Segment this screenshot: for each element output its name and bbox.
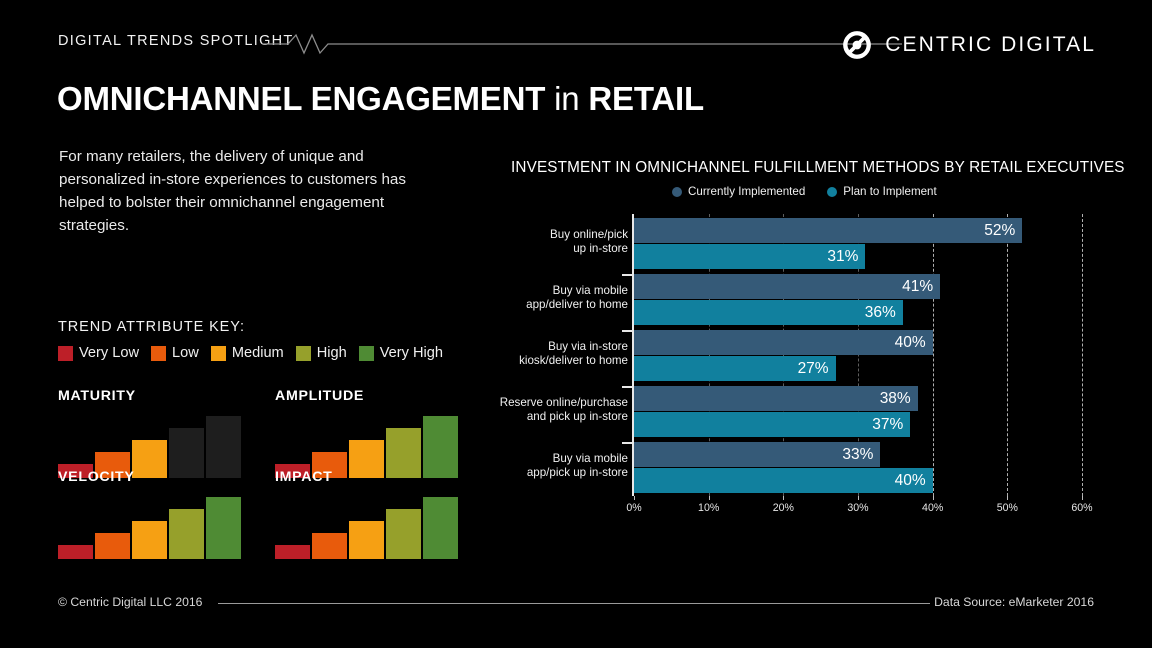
- page-title: OMNICHANNEL ENGAGEMENT in RETAIL: [57, 80, 704, 118]
- title-part-2: RETAIL: [588, 80, 704, 117]
- x-axis-label: 50%: [997, 502, 1018, 514]
- legend-dot: [827, 187, 837, 197]
- category-label-line: Buy via mobile: [463, 284, 628, 298]
- chart-bar-group: Buy via in-storekiosk/deliver to home40%…: [490, 330, 1110, 386]
- x-axis-label: 40%: [922, 502, 943, 514]
- attribute-panel-impact: IMPACT: [275, 469, 475, 559]
- trend-key-swatch: [359, 346, 374, 361]
- x-axis-tick: [858, 496, 859, 500]
- chart-bar[interactable]: 52%: [634, 218, 1022, 243]
- attribute-level-bar-active: [95, 533, 130, 559]
- chart-bar[interactable]: 41%: [634, 274, 940, 299]
- chart-bar-group: Buy online/pickup in-store52%31%: [490, 218, 1110, 274]
- centric-digital-circle-logo-icon: [842, 30, 872, 60]
- category-label-line: Reserve online/purchase: [463, 396, 628, 410]
- category-label-line: kiosk/deliver to home: [463, 354, 628, 368]
- legend-dot: [672, 187, 682, 197]
- trend-key-legend: Very LowLowMediumHighVery High: [58, 345, 443, 361]
- trend-key-label: Very Low: [79, 345, 139, 361]
- x-axis-tick: [783, 496, 784, 500]
- chart-bar-value: 36%: [865, 304, 903, 322]
- attribute-level-bar-active: [275, 545, 310, 559]
- attribute-panel-maturity: MATURITY: [58, 388, 258, 478]
- category-label: Reserve online/purchaseand pick up in-st…: [463, 396, 628, 424]
- page-header: DIGITAL TRENDS SPOTLIGHT CENTRIC DIGITAL: [0, 0, 1152, 72]
- bar-chart-plot: Buy online/pickup in-store52%31%Buy via …: [490, 210, 1110, 520]
- data-source-text: Data Source: eMarketer 2016: [934, 595, 1094, 609]
- brand-name: CENTRIC DIGITAL: [885, 33, 1096, 57]
- category-label: Buy online/pickup in-store: [463, 228, 628, 256]
- legend-label: Currently Implemented: [688, 185, 805, 198]
- chart-title: INVESTMENT IN OMNICHANNEL FULFILLMENT ME…: [511, 159, 1125, 177]
- attribute-level-bar-active: [206, 497, 241, 559]
- page-footer: © Centric Digital LLC 2016 Data Source: …: [0, 595, 1152, 619]
- trend-key-swatch: [151, 346, 166, 361]
- trend-key-item: Medium: [211, 345, 284, 361]
- trend-key-label: Very High: [380, 345, 443, 361]
- chart-bar-value: 37%: [872, 416, 910, 434]
- kicker-label: DIGITAL TRENDS SPOTLIGHT: [58, 33, 294, 49]
- intro-paragraph: For many retailers, the delivery of uniq…: [59, 145, 431, 237]
- category-label-line: up in-store: [463, 242, 628, 256]
- trend-key-swatch: [211, 346, 226, 361]
- trend-key-label: Medium: [232, 345, 284, 361]
- category-label-line: app/pick up in-store: [463, 466, 628, 480]
- x-axis-tick: [1007, 496, 1008, 500]
- attribute-level-bar-active: [312, 533, 347, 559]
- trend-key-item: Very Low: [58, 345, 139, 361]
- chart-bar[interactable]: 38%: [634, 386, 918, 411]
- attribute-level-bar-active: [132, 521, 167, 559]
- chart-bar[interactable]: 40%: [634, 330, 933, 355]
- brand-logo: CENTRIC DIGITAL: [842, 30, 1096, 60]
- trend-key-swatch: [296, 346, 311, 361]
- chart-bar-value: 31%: [827, 248, 865, 266]
- chart-bar-group: Buy via mobileapp/pick up in-store33%40%: [490, 442, 1110, 498]
- chart-bar-value: 33%: [842, 446, 880, 464]
- category-label-line: app/deliver to home: [463, 298, 628, 312]
- chart-bar[interactable]: 37%: [634, 412, 910, 437]
- waveform-pulse-icon: [262, 32, 902, 56]
- trend-key-item: Low: [151, 345, 199, 361]
- chart-bar-group: Reserve online/purchaseand pick up in-st…: [490, 386, 1110, 442]
- attribute-panel-velocity: VELOCITY: [58, 469, 258, 559]
- x-axis-label: 10%: [698, 502, 719, 514]
- trend-key-swatch: [58, 346, 73, 361]
- x-axis-tick: [1082, 496, 1083, 500]
- chart-bar[interactable]: 36%: [634, 300, 903, 325]
- title-part-1: OMNICHANNEL ENGAGEMENT: [57, 80, 545, 117]
- trend-key-item: High: [296, 345, 347, 361]
- x-axis-tick: [933, 496, 934, 500]
- category-label: Buy via mobileapp/deliver to home: [463, 284, 628, 312]
- attribute-level-bar-active: [349, 521, 384, 559]
- category-label-line: Buy via mobile: [463, 452, 628, 466]
- attribute-title: VELOCITY: [58, 469, 135, 485]
- attribute-panel-amplitude: AMPLITUDE: [275, 388, 475, 478]
- chart-bar[interactable]: 31%: [634, 244, 865, 269]
- trend-key-item: Very High: [359, 345, 443, 361]
- category-label: Buy via in-storekiosk/deliver to home: [463, 340, 628, 368]
- chart-bar-value: 38%: [880, 390, 918, 408]
- attribute-title: IMPACT: [275, 469, 333, 485]
- chart-legend: Currently ImplementedPlan to Implement: [672, 185, 937, 198]
- chart-bar[interactable]: 33%: [634, 442, 880, 467]
- x-axis-label: 60%: [1071, 502, 1092, 514]
- chart-bar[interactable]: 40%: [634, 468, 933, 493]
- attribute-title: MATURITY: [58, 388, 136, 404]
- legend-item[interactable]: Currently Implemented: [672, 185, 805, 198]
- category-label-line: Buy via in-store: [463, 340, 628, 354]
- chart-bar-value: 52%: [984, 222, 1022, 240]
- attribute-level-bar-active: [386, 509, 421, 559]
- chart-bar-value: 27%: [798, 360, 836, 378]
- x-axis-label: 0%: [626, 502, 641, 514]
- x-axis-tick: [634, 496, 635, 500]
- trend-key-label: High: [317, 345, 347, 361]
- category-label-line: Buy online/pick: [463, 228, 628, 242]
- trend-key-title: TREND ATTRIBUTE KEY:: [58, 319, 245, 335]
- attribute-level-bar-active: [423, 497, 458, 559]
- title-connector: in: [545, 80, 588, 117]
- chart-bar[interactable]: 27%: [634, 356, 836, 381]
- attribute-level-bar-active: [169, 509, 204, 559]
- category-label-line: and pick up in-store: [463, 410, 628, 424]
- footer-divider: [218, 603, 930, 604]
- chart-bar-value: 41%: [902, 278, 940, 296]
- x-axis: 0%10%20%30%40%50%60%: [490, 496, 1110, 520]
- chart-bar-value: 40%: [895, 472, 933, 490]
- copyright-text: © Centric Digital LLC 2016: [58, 595, 202, 609]
- chart-bar-value: 40%: [895, 334, 933, 352]
- attribute-bars: [275, 497, 465, 559]
- x-axis-tick: [709, 496, 710, 500]
- chart-bar-group: Buy via mobileapp/deliver to home41%36%: [490, 274, 1110, 330]
- x-axis-label: 30%: [847, 502, 868, 514]
- trend-key-label: Low: [172, 345, 199, 361]
- x-axis-label: 20%: [773, 502, 794, 514]
- category-label: Buy via mobileapp/pick up in-store: [463, 452, 628, 480]
- legend-item[interactable]: Plan to Implement: [827, 185, 936, 198]
- legend-label: Plan to Implement: [843, 185, 936, 198]
- attribute-bars: [58, 497, 248, 559]
- attribute-title: AMPLITUDE: [275, 388, 364, 404]
- attribute-level-bar-active: [58, 545, 93, 559]
